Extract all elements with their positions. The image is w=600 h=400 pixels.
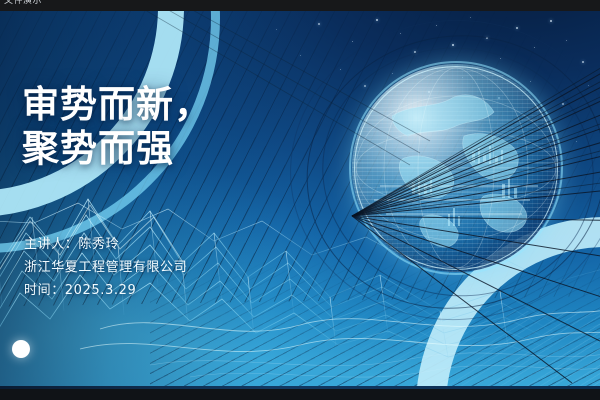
converging-lines-icon xyxy=(0,11,600,389)
slide-title-line-2: 聚势而强 xyxy=(22,127,212,171)
viewer-title-text: 文件演示 xyxy=(4,0,42,7)
slide-canvas[interactable]: 审势而新， 聚势而强 主讲人：陈秀玲 浙江华夏工程管理有限公司 时间：2025.… xyxy=(0,11,600,389)
slide-title-line-1: 审势而新， xyxy=(22,83,212,127)
slide-meta-block: 主讲人：陈秀玲 浙江华夏工程管理有限公司 时间：2025.3.29 xyxy=(24,233,187,302)
company-line: 浙江华夏工程管理有限公司 xyxy=(24,256,187,279)
viewer-title-bar: 文件演示 xyxy=(0,0,600,11)
white-dot-marker-icon xyxy=(12,340,30,358)
presenter-line: 主讲人：陈秀玲 xyxy=(24,233,187,256)
viewer-bottom-bar xyxy=(0,389,600,400)
slide-title: 审势而新， 聚势而强 xyxy=(22,83,212,171)
date-line: 时间：2025.3.29 xyxy=(24,279,187,302)
presentation-viewer: 文件演示 xyxy=(0,0,600,400)
